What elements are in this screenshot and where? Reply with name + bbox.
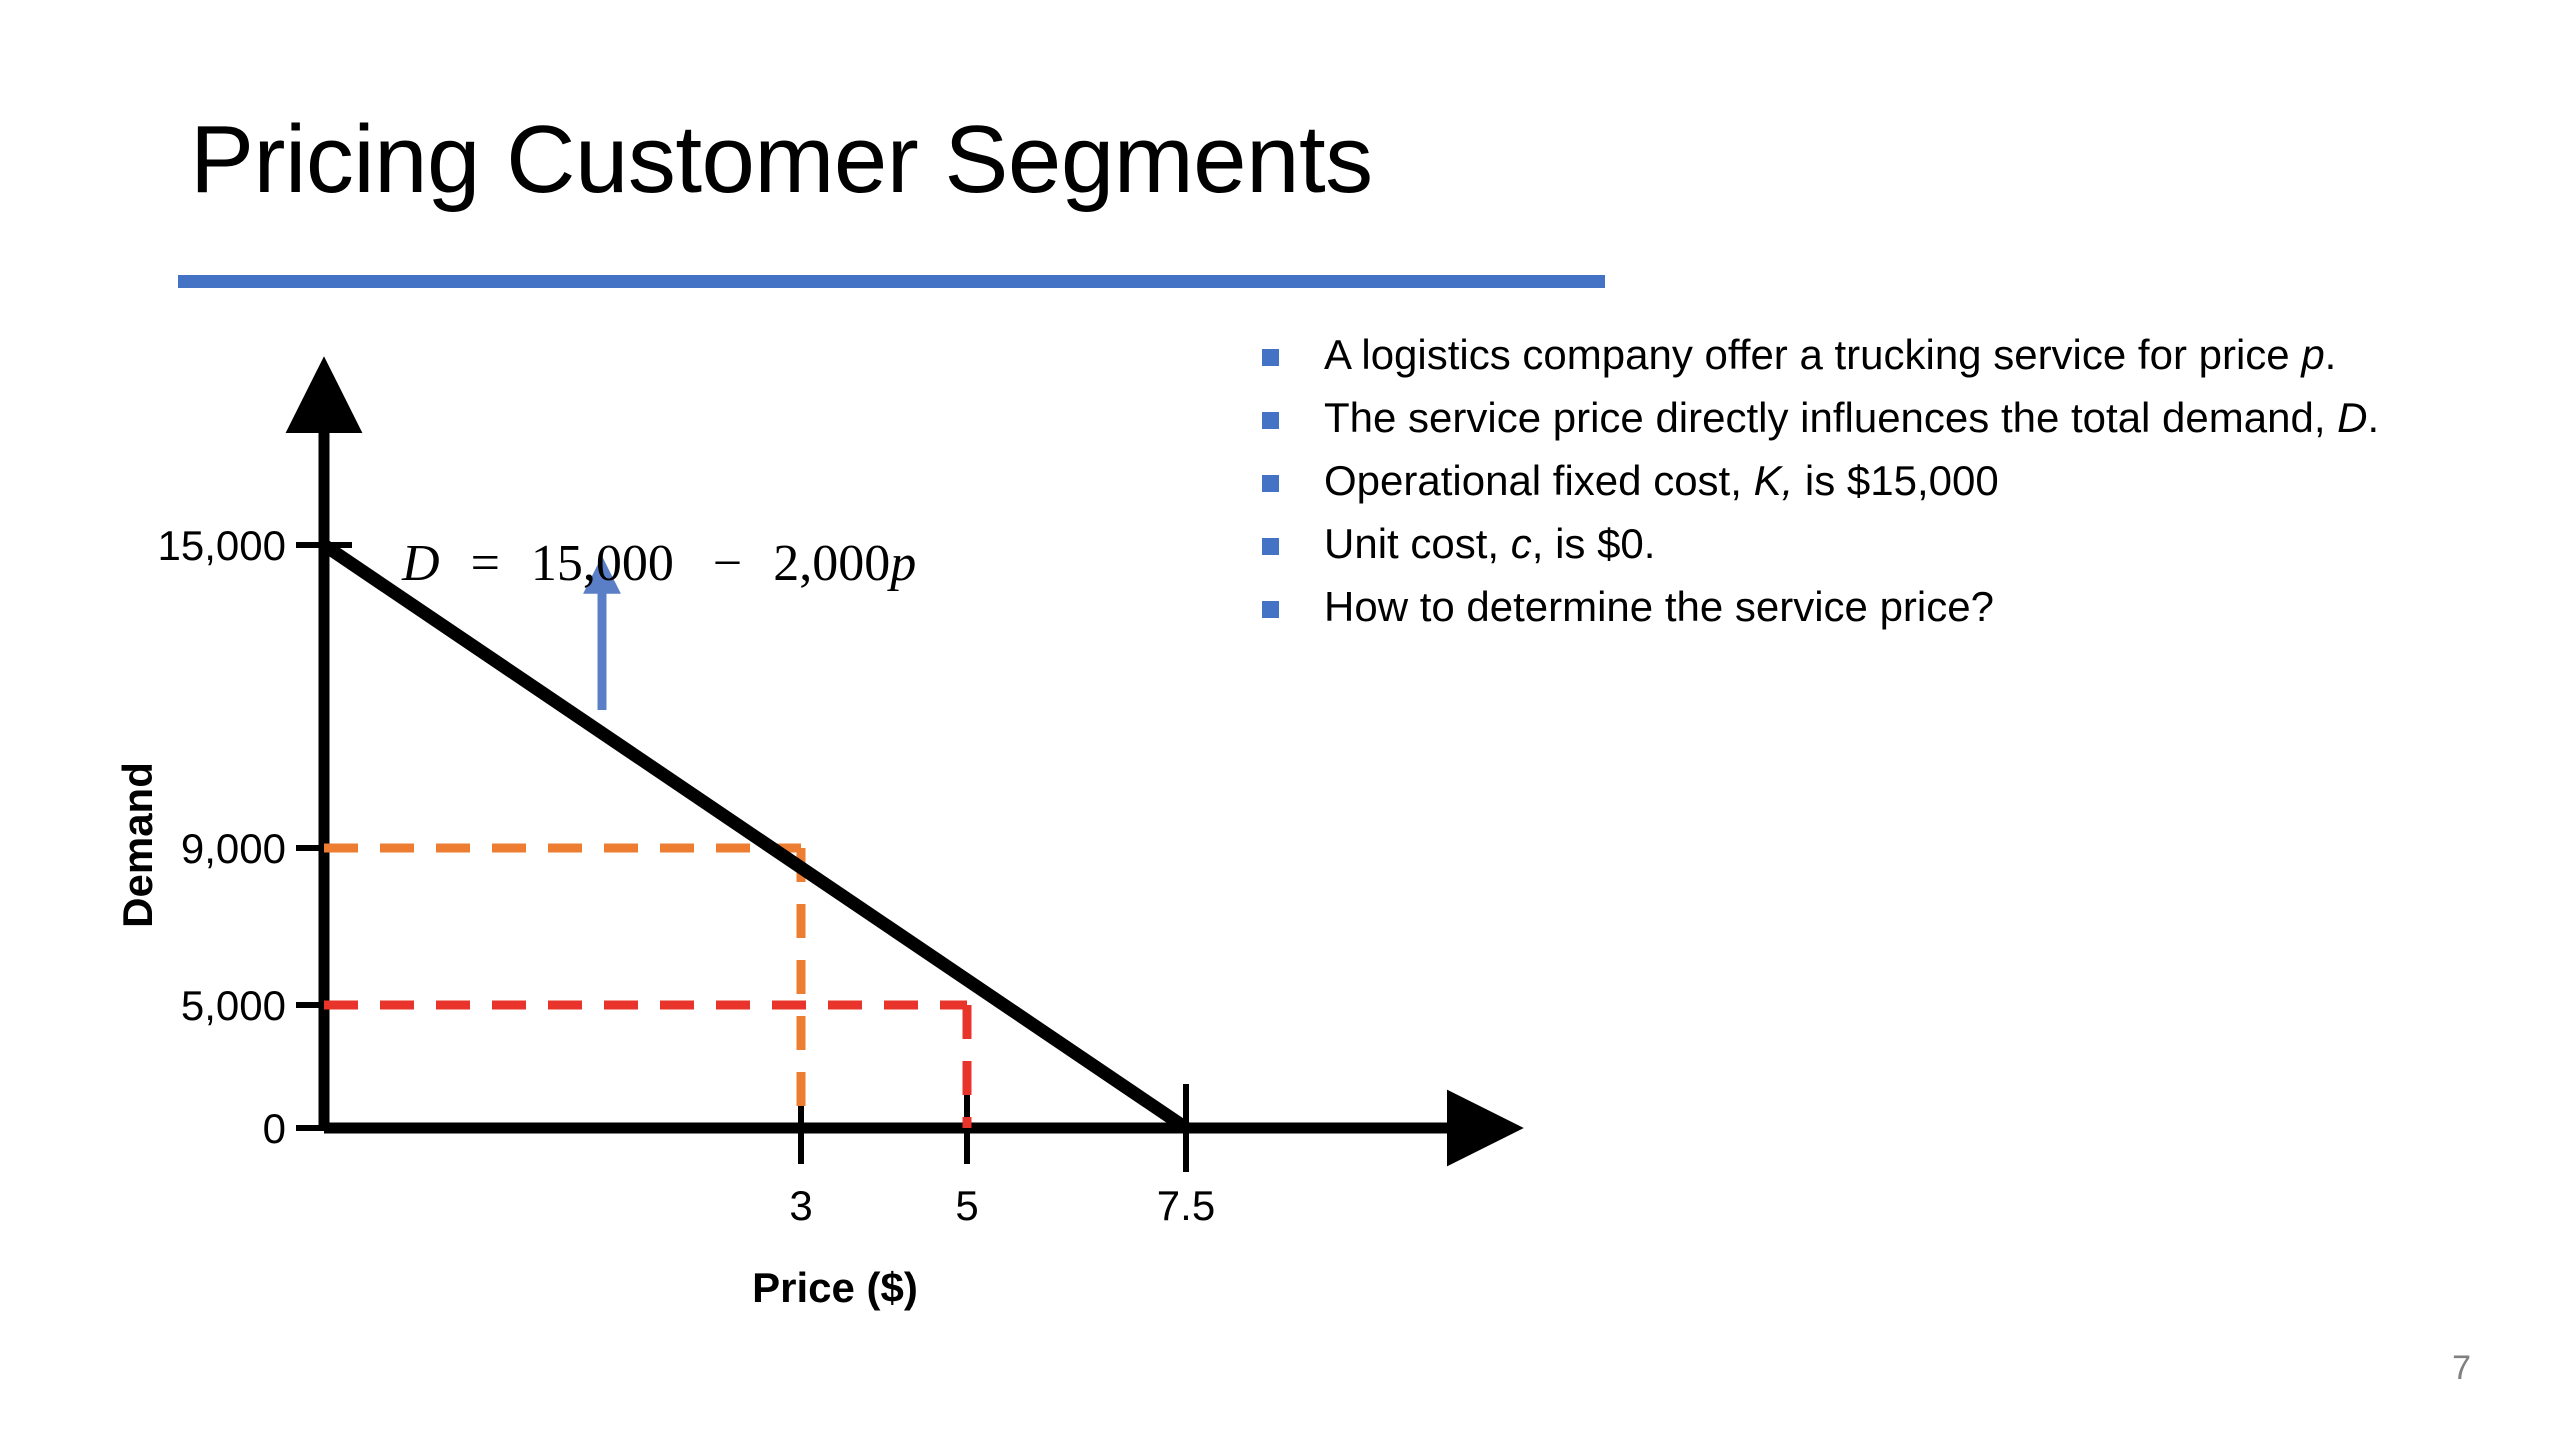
x-tick-label-7point5: 7.5 <box>1157 1182 1215 1229</box>
list-item-label: A logistics company offer a trucking ser… <box>1324 330 2336 380</box>
y-tick-label-9000: 9,000 <box>181 825 286 872</box>
demand-curve-series <box>324 545 1186 1128</box>
y-tick-label-5000: 5,000 <box>181 982 286 1029</box>
x-tick-label-3: 3 <box>789 1182 812 1229</box>
y-axis-title: Demand <box>114 762 161 928</box>
slide-canvas: Pricing Customer Segments A logistics co… <box>0 0 2549 1430</box>
y-tick-label-15000: 15,000 <box>158 522 286 569</box>
list-item: A logistics company offer a trucking ser… <box>1262 330 2502 380</box>
y-tick-label-0: 0 <box>263 1105 286 1152</box>
square-bullet-icon <box>1262 349 1279 366</box>
demand-curve-chart: D = 15,000 − 2,000p 15,000 9,000 5,000 0… <box>100 390 1520 1400</box>
demand-equation-label: D = 15,000 − 2,000p <box>401 535 916 592</box>
x-axis-title: Price ($) <box>752 1264 918 1311</box>
page-title: Pricing Customer Segments <box>190 108 1690 212</box>
x-tick-label-5: 5 <box>955 1182 978 1229</box>
page-number: 7 <box>2452 1349 2471 1388</box>
title-underline-rule <box>178 275 1605 288</box>
